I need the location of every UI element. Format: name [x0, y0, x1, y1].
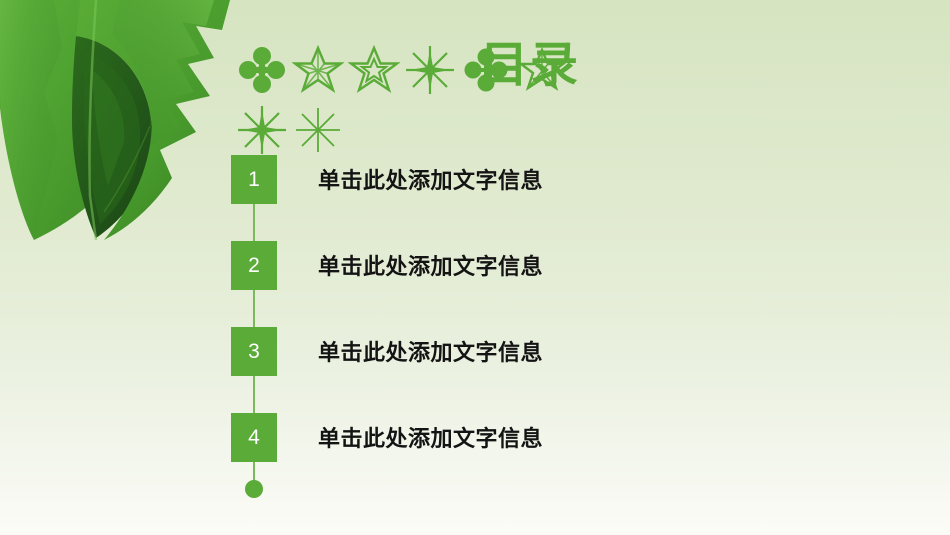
leaf-decoration-graphic	[0, 0, 245, 265]
agenda-number-badge: 4	[231, 413, 277, 462]
sparkle-icon	[236, 104, 288, 156]
agenda-item-label[interactable]: 单击此处添加文字信息	[318, 163, 543, 195]
decorative-glyph-row-bottom	[236, 104, 344, 156]
agenda-number-badge: 3	[231, 327, 277, 376]
list-item[interactable]: 3 单击此处添加文字信息	[231, 327, 851, 413]
list-item[interactable]: 4 单击此处添加文字信息	[231, 413, 851, 499]
agenda-item-label[interactable]: 单击此处添加文字信息	[318, 249, 543, 281]
list-item[interactable]: 1 单击此处添加文字信息	[231, 155, 851, 241]
agenda-item-label[interactable]: 单击此处添加文字信息	[318, 421, 543, 453]
presentation-slide: 目录 1 单击此处添加文字信息 2 单击此处添加文字信息 3 单击此处添加文字信…	[0, 0, 950, 535]
page-title: 目录	[480, 40, 580, 93]
agenda-number-badge: 1	[231, 155, 277, 204]
asterisk-icon	[292, 104, 344, 156]
list-item[interactable]: 2 单击此处添加文字信息	[231, 241, 851, 327]
star-outline-icon	[348, 44, 400, 96]
sparkle-icon	[404, 44, 456, 96]
clover-icon	[236, 44, 288, 96]
agenda-list: 1 单击此处添加文字信息 2 单击此处添加文字信息 3 单击此处添加文字信息 4…	[231, 155, 851, 499]
agenda-item-label[interactable]: 单击此处添加文字信息	[318, 335, 543, 367]
agenda-end-dot	[245, 480, 263, 498]
star-outline-icon	[292, 44, 344, 96]
agenda-number-badge: 2	[231, 241, 277, 290]
